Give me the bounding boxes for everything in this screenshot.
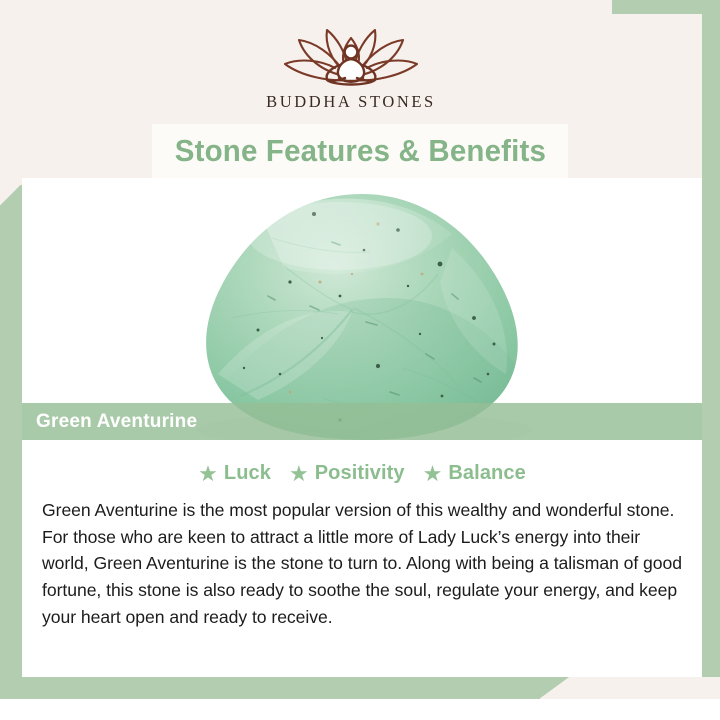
green-aventurine-stone-image <box>22 178 702 440</box>
frame-band-right <box>702 0 720 720</box>
keyword-item-balance: ★ Balance <box>423 462 526 485</box>
keyword-label-balance: Balance <box>448 462 525 485</box>
lotus-meditation-icon <box>265 24 437 90</box>
frame-band-bottom-angle <box>540 677 570 699</box>
stone-photo <box>22 178 702 440</box>
stone-name-label-bar: Green Aventurine <box>22 403 702 440</box>
keyword-item-positivity: ★ Positivity <box>289 462 405 485</box>
frame-bottom-white <box>0 699 720 720</box>
stone-features-infographic: BUDDHA STONES Stone Features & Benefits <box>0 0 720 720</box>
stone-name-label: Green Aventurine <box>36 411 197 433</box>
frame-band-bottom <box>0 677 560 699</box>
brand-header: BUDDHA STONES <box>0 14 702 124</box>
section-title-banner: Stone Features & Benefits <box>152 124 568 178</box>
star-icon: ★ <box>198 463 218 485</box>
star-icon: ★ <box>289 463 309 485</box>
page-title: Stone Features & Benefits <box>174 133 545 169</box>
brand-logo: BUDDHA STONES <box>0 14 702 124</box>
keyword-label-luck: Luck <box>224 462 271 485</box>
description-panel: ★ Luck ★ Positivity ★ Balance Green Aven… <box>22 440 702 677</box>
stone-description: Green Aventurine is the most popular ver… <box>34 497 690 631</box>
keyword-list: ★ Luck ★ Positivity ★ Balance <box>34 462 690 485</box>
keyword-label-positivity: Positivity <box>315 462 405 485</box>
frame-band-left <box>0 185 22 699</box>
brand-name: BUDDHA STONES <box>266 92 436 112</box>
star-icon: ★ <box>423 463 443 485</box>
keyword-item-luck: ★ Luck <box>198 462 271 485</box>
frame-bottom-right-cream <box>560 677 720 699</box>
frame-band-top-cream-mask <box>0 0 612 14</box>
frame-band-left-bevel <box>0 185 22 207</box>
